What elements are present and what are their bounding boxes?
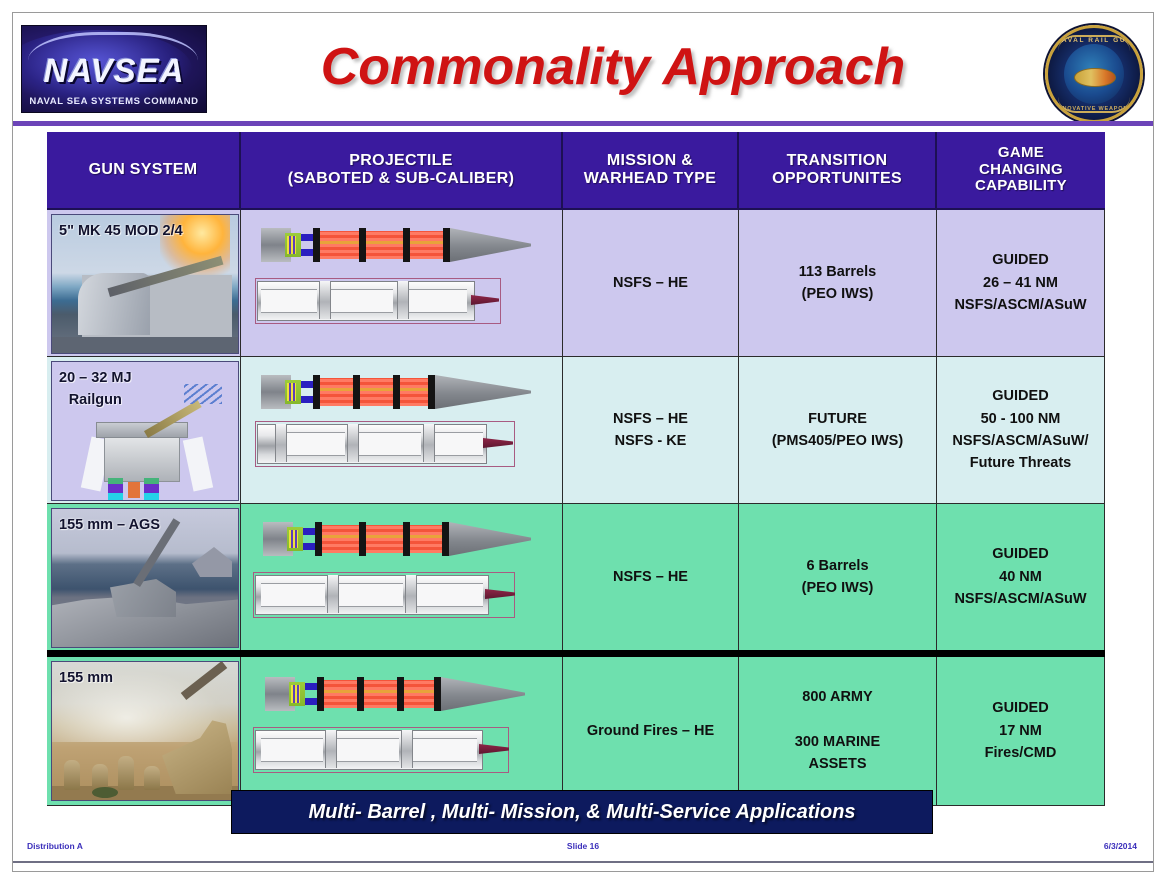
column-header-transition: TRANSITION OPPORTUNITES: [739, 132, 937, 210]
projectile-blue-band-upper: [301, 234, 313, 241]
footer-slide-number: Slide 16: [13, 841, 1153, 851]
deck-shape: [52, 337, 238, 353]
projectile-payload-body: [313, 378, 433, 406]
table-row: 155 mm: [47, 657, 1105, 806]
capability-cell: GUIDED 26 – 41 NM NSFS/ASCM/ASuW: [937, 210, 1105, 356]
projectile-center-stripe: [313, 241, 448, 244]
column-header-gun-system: GUN SYSTEM: [47, 132, 241, 210]
sabot-waist-3: [409, 289, 467, 313]
sabot-waist-1: [261, 738, 323, 762]
projectile-band-2: [359, 228, 366, 262]
sabot-waist-1: [261, 289, 317, 313]
column-header-projectile: PROJECTILE (SABOTED & SUB-CALIBER): [241, 132, 563, 210]
header-divider-rule: [13, 121, 1153, 126]
saboted-projectile-icon: [261, 371, 531, 413]
projectile-band-1: [313, 375, 320, 409]
transition-cell: 113 Barrels (PEO IWS): [739, 210, 937, 356]
projectile-cell: [241, 657, 563, 805]
gun-system-label: 5" MK 45 MOD 2/4: [59, 220, 183, 242]
gun-thumbnail-ags: 155 mm – AGS: [51, 508, 239, 648]
projectile-band-3: [397, 677, 404, 711]
transition-cell: 800 ARMY 300 MARINE ASSETS: [739, 657, 937, 805]
distant-ship-shape: [192, 547, 232, 577]
sabot-waist-2: [331, 289, 393, 313]
railgun-top-plate: [96, 422, 188, 438]
sabot-segment-1: [319, 281, 331, 319]
gun-system-label: 155 mm: [59, 667, 113, 689]
projectile-band-4: [442, 522, 449, 556]
railgun-arm-right: [183, 436, 213, 491]
projectile-blue-band-lower: [301, 396, 313, 403]
sabot-segment-1: [325, 730, 337, 768]
projectile-band-1: [317, 677, 324, 711]
sabot-icon: [255, 421, 515, 467]
projectile-fin-stripes: [287, 236, 296, 254]
projectile-band-1: [315, 522, 322, 556]
sabot-segment-1: [327, 575, 339, 613]
projectile-band-3: [403, 228, 410, 262]
projectile-blue-band-upper: [305, 683, 317, 690]
table-header-row: GUN SYSTEM PROJECTILE (SABOTED & SUB-CAL…: [47, 132, 1105, 210]
seal-center-emblem: [1074, 68, 1116, 87]
projectile-nose-cone: [450, 228, 531, 262]
sabot-waist-3: [413, 738, 477, 762]
slide-header: NAVSEA NAVAL SEA SYSTEMS COMMAND Commona…: [13, 13, 1153, 123]
projectile-cell: [241, 357, 563, 503]
railgun-discharge-icon: [184, 384, 222, 404]
sabot-waist-3: [435, 432, 483, 456]
table-row: 5" MK 45 MOD 2/4: [47, 210, 1105, 357]
projectile-band-2: [359, 522, 366, 556]
projectile-blue-band-upper: [303, 528, 315, 535]
sabot-icon: [253, 727, 509, 773]
projectile-graphic-group: [241, 504, 562, 650]
gun-thumbnail-mk45: 5" MK 45 MOD 2/4: [51, 214, 239, 354]
projectile-band-1: [313, 228, 320, 262]
sabot-segment-3: [423, 424, 435, 462]
projectile-center-stripe: [317, 690, 439, 693]
sabot-waist-3: [417, 583, 483, 607]
projectile-band-3: [393, 375, 400, 409]
projectile-center-stripe: [315, 535, 447, 538]
projectile-fin-stripes: [291, 685, 300, 703]
sabot-waist-2: [339, 583, 403, 607]
projectile-graphic-group: [241, 210, 562, 356]
projectile-nose-cone: [435, 375, 531, 409]
gun-system-label: 155 mm – AGS: [59, 514, 160, 536]
gun-system-cell: 20 – 32 MJ Railgun: [47, 357, 241, 503]
soldier-shape-4: [144, 766, 160, 790]
projectile-cell: [241, 210, 563, 356]
navsea-wordmark: NAVSEA: [22, 52, 206, 90]
projectile-band-4: [428, 375, 435, 409]
projectile-blue-band-lower: [301, 249, 313, 256]
sabot-icon: [255, 278, 501, 324]
ags-turret-shape: [110, 579, 176, 617]
projectile-payload-body: [313, 231, 448, 259]
table-row: 155 mm – AGS: [47, 504, 1105, 657]
summary-banner: Multi- Barrel , Multi- Mission, & Multi-…: [231, 790, 933, 834]
mission-warhead-cell: NSFS – HE: [563, 504, 739, 650]
projectile-blue-band-lower: [303, 543, 315, 550]
saboted-projectile-icon: [263, 518, 531, 560]
column-header-mission-warhead: MISSION & WARHEAD TYPE: [563, 132, 739, 210]
sabot-waist-2: [359, 432, 421, 456]
projectile-band-4: [434, 677, 441, 711]
gun-system-label: 20 – 32 MJ Railgun: [59, 367, 132, 412]
gun-thumbnail-155mm: 155 mm: [51, 661, 239, 801]
column-header-game-changing: GAME CHANGING CAPABILITY: [937, 132, 1105, 210]
projectile-graphic-group: [241, 357, 562, 503]
soldier-shape-3: [118, 756, 134, 790]
vegetation-shape: [92, 787, 118, 798]
sabot-segment-2: [405, 575, 417, 613]
table-row: 20 – 32 MJ Railgun: [47, 357, 1105, 504]
projectile-fin-stripes: [287, 383, 296, 401]
summary-banner-text: Multi- Barrel , Multi- Mission, & Multi-…: [308, 801, 855, 824]
projectile-payload-body: [317, 680, 439, 708]
seal-top-text: NAVAL RAIL GUN: [1048, 37, 1140, 44]
capability-cell: GUIDED 40 NM NSFS/ASCM/ASuW: [937, 504, 1105, 650]
sabot-segment-2: [397, 281, 409, 319]
projectile-band-2: [357, 677, 364, 711]
sabot-waist-2: [337, 738, 399, 762]
projectile-graphic-group: [241, 657, 562, 805]
navsea-logo-icon: NAVSEA NAVAL SEA SYSTEMS COMMAND: [21, 25, 207, 113]
sabot-segment-2: [347, 424, 359, 462]
projectile-center-stripe: [313, 388, 433, 391]
naval-rail-gun-seal-icon: NAVAL RAIL GUN INNOVATIVE WEAPONS: [1045, 25, 1143, 123]
gun-system-cell: 155 mm – AGS: [47, 504, 241, 650]
slide-footer: Distribution A Slide 16 6/3/2014: [13, 841, 1153, 857]
railgun-module-cyan-1: [108, 493, 123, 500]
sabot-segment-2: [401, 730, 413, 768]
page-title: Commonality Approach: [243, 37, 983, 97]
slide-canvas: NAVSEA NAVAL SEA SYSTEMS COMMAND Commona…: [12, 12, 1154, 872]
projectile-blue-band-upper: [301, 381, 313, 388]
railgun-module-cyan-2: [144, 493, 159, 500]
projectile-blue-band-lower: [305, 698, 317, 705]
saboted-projectile-icon: [261, 224, 531, 266]
transition-cell: FUTURE (PMS405/PEO IWS): [739, 357, 937, 503]
sabot-icon: [253, 572, 515, 618]
projectile-fin-stripes: [289, 530, 298, 548]
gun-system-cell: 155 mm: [47, 657, 241, 805]
soldier-shape-1: [64, 760, 80, 790]
gun-system-cell: 5" MK 45 MOD 2/4: [47, 210, 241, 356]
mission-warhead-cell: NSFS – HE NSFS - KE: [563, 357, 739, 503]
footer-date: 6/3/2014: [1104, 841, 1137, 851]
railgun-base: [104, 434, 180, 482]
railgun-module-orange: [128, 482, 140, 498]
gun-thumbnail-railgun: 20 – 32 MJ Railgun: [51, 361, 239, 501]
projectile-band-3: [403, 522, 410, 556]
mission-warhead-cell: NSFS – HE: [563, 210, 739, 356]
projectile-band-2: [353, 375, 360, 409]
transition-cell: 6 Barrels (PEO IWS): [739, 504, 937, 650]
projectile-payload-body: [315, 525, 447, 553]
mission-warhead-cell: Ground Fires – HE: [563, 657, 739, 805]
projectile-nose-cone: [449, 522, 531, 556]
sabot-waist-1: [287, 432, 345, 456]
capability-cell: GUIDED 17 NM Fires/CMD: [937, 657, 1105, 805]
projectile-cell: [241, 504, 563, 650]
seal-bottom-text: INNOVATIVE WEAPONS: [1048, 106, 1140, 112]
capability-cell: GUIDED 50 - 100 NM NSFS/ASCM/ASuW/ Futur…: [937, 357, 1105, 503]
sabot-segment-1: [275, 424, 287, 462]
projectile-band-4: [443, 228, 450, 262]
sabot-waist-1: [261, 583, 325, 607]
saboted-projectile-icon: [265, 673, 525, 715]
navsea-subtitle: NAVAL SEA SYSTEMS COMMAND: [22, 96, 206, 107]
footer-divider: [13, 861, 1153, 863]
projectile-nose-cone: [441, 677, 525, 711]
commonality-table: GUN SYSTEM PROJECTILE (SABOTED & SUB-CAL…: [47, 132, 1105, 806]
